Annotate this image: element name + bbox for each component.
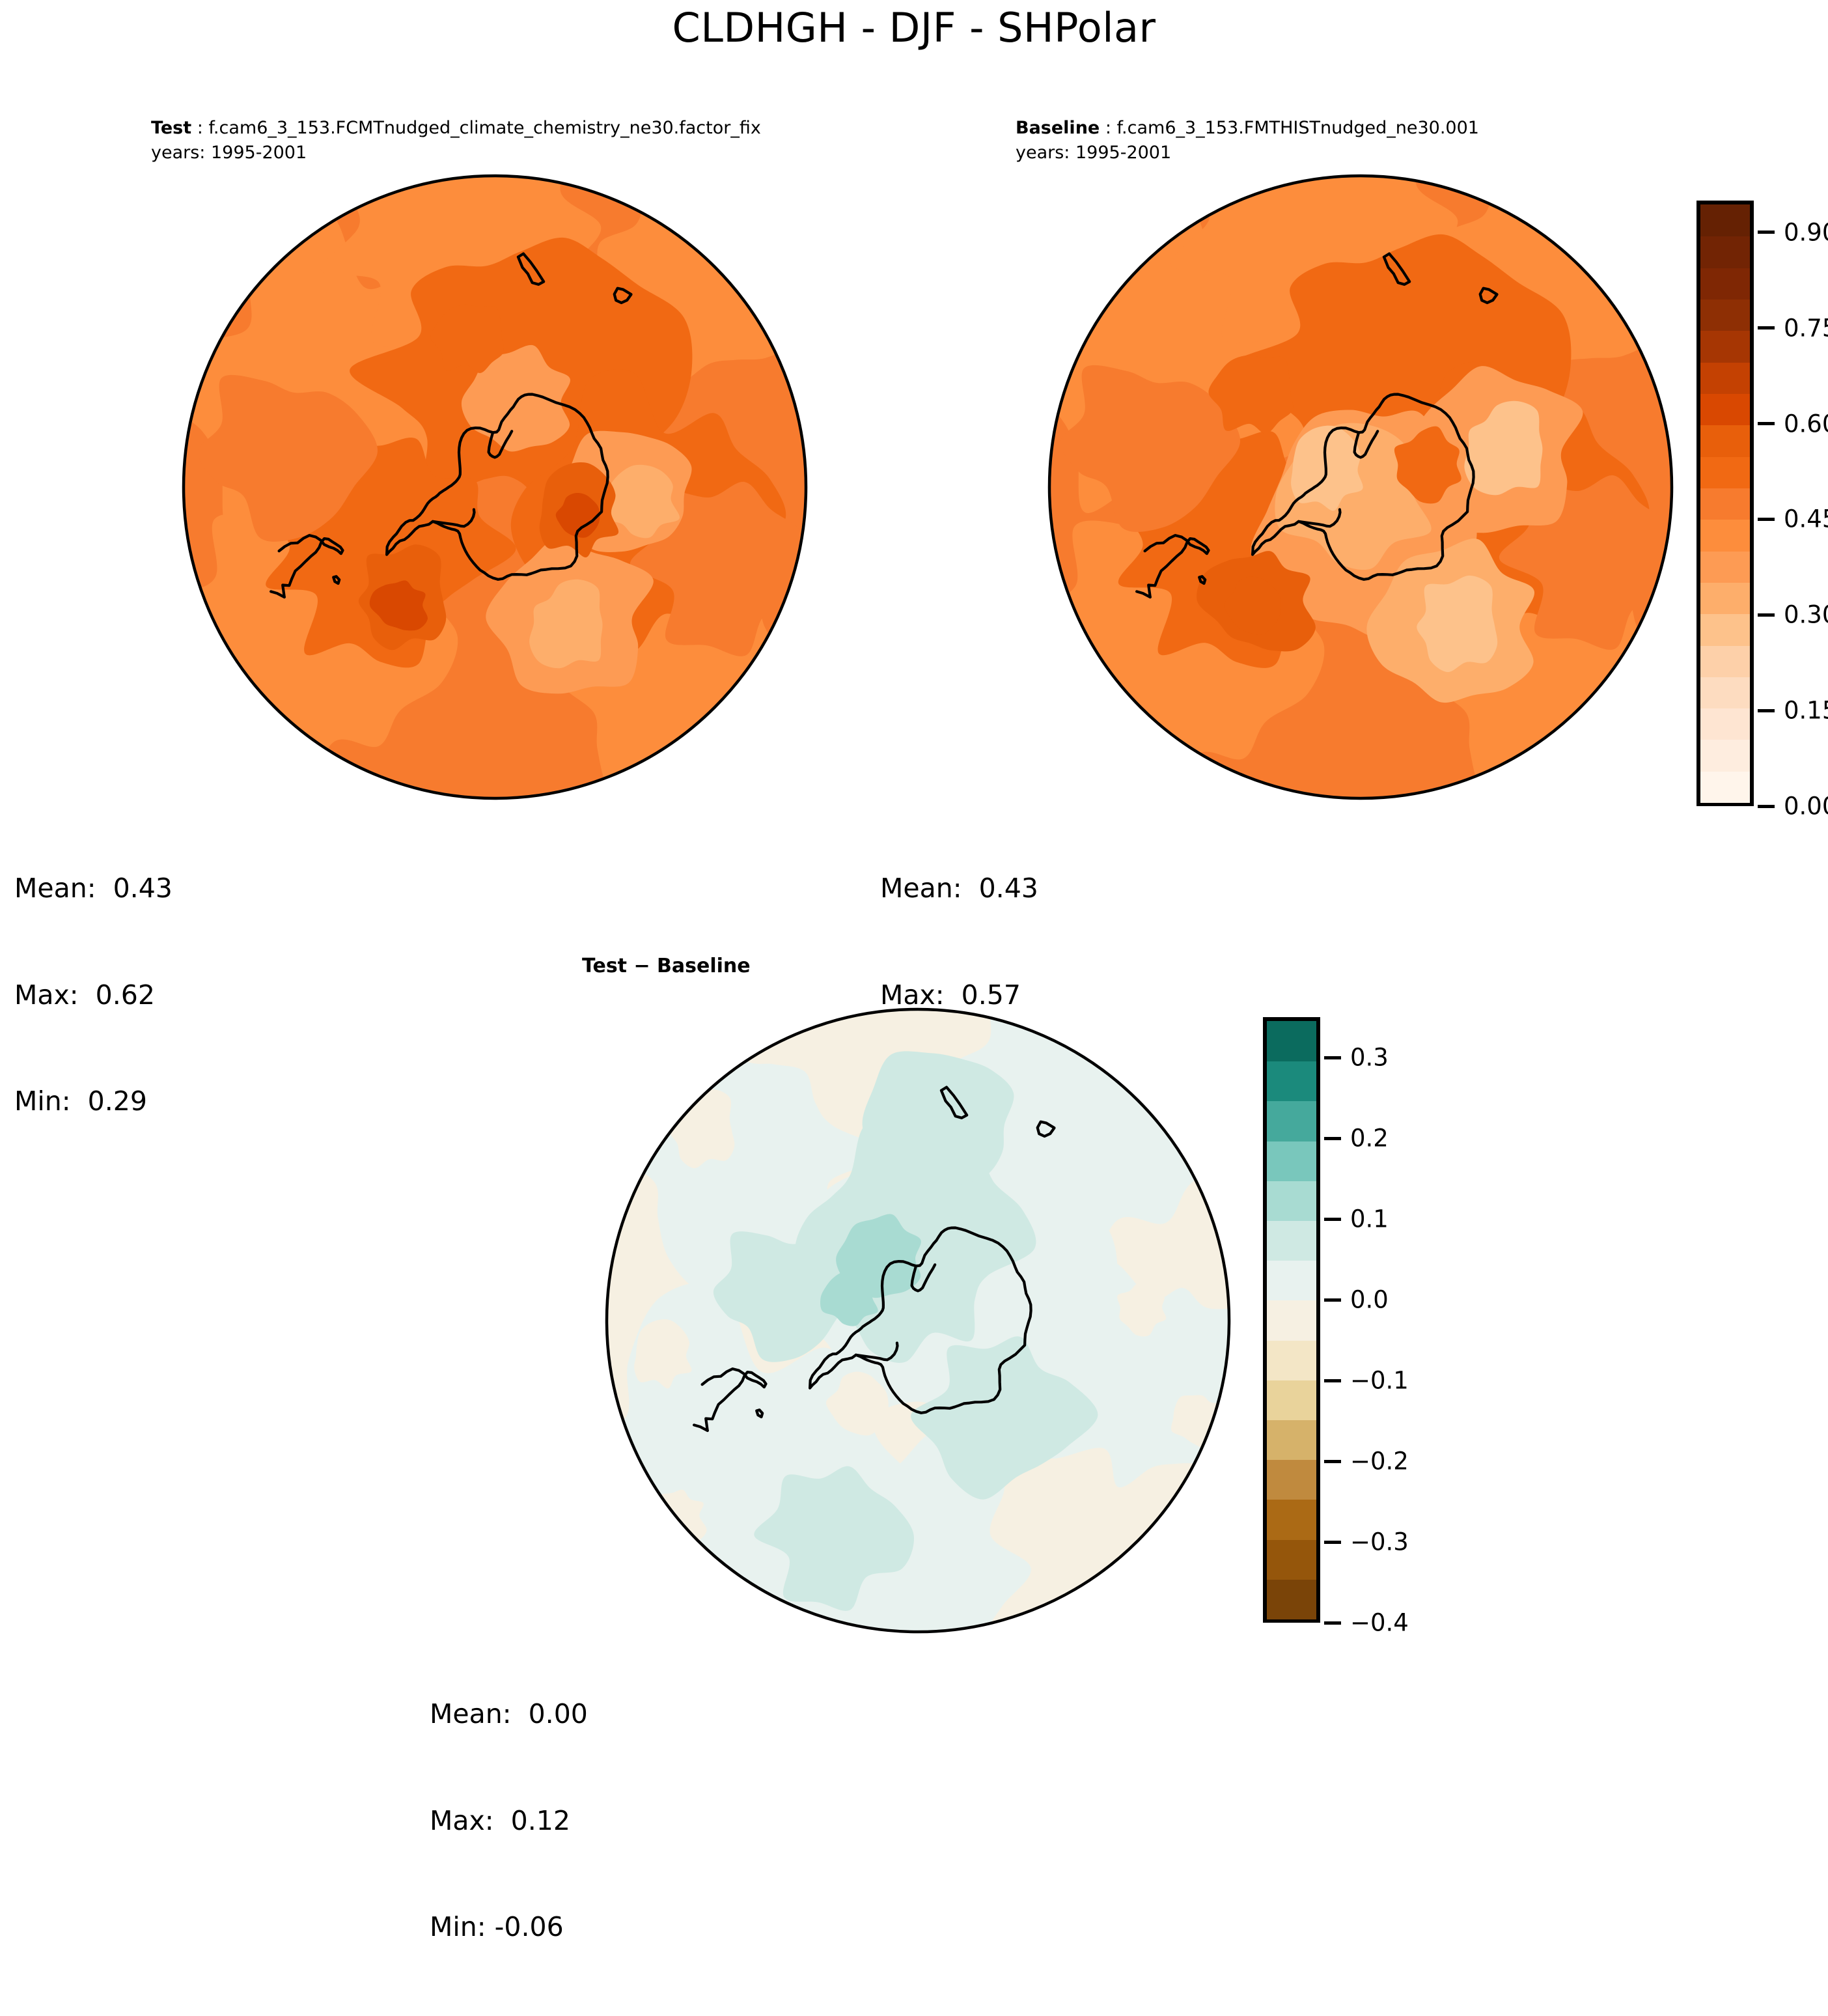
colorbar-tickmark [1758,805,1775,808]
colorbar-tick-label: 0.3 [1350,1044,1389,1072]
colorbar-band [1700,550,1750,582]
colorbar-tickmark [1758,613,1775,617]
colorbar-tick-label: −0.4 [1350,1609,1409,1637]
colorbar-tickmark [1324,1218,1341,1221]
colorbar-band [1700,268,1750,300]
colorbar-band [1700,613,1750,645]
colorbar-band [1700,708,1750,740]
colorbar-band [1267,1220,1316,1261]
colorbar-band [1700,488,1750,520]
colorbar-band [1267,1459,1316,1500]
colorbar-band [1700,739,1750,771]
test-stats: Mean: 0.43 Max: 0.62 Min: 0.29 [14,800,173,1190]
colorbar-tickmark [1324,1460,1341,1463]
colorbar-tickmark [1324,1056,1341,1059]
colorbar-tickmark [1324,1379,1341,1382]
contour-fill-group [154,161,820,813]
colorbar-band [1267,1499,1316,1539]
colorbar-band [1267,1181,1316,1221]
baseline-case-line: Baseline : f.cam6_3_153.FMTHISTnudged_ne… [1016,116,1479,141]
test-stat-max: Max: 0.62 [14,977,173,1013]
colorbar-band [1267,1539,1316,1580]
colorbar-tick-label: 0.45 [1784,505,1828,533]
colorbar-band [1267,1340,1316,1380]
test-map [150,161,820,813]
colorbar-tick-label: −0.1 [1350,1367,1409,1395]
colorbar-band [1267,1061,1316,1101]
colorbar-band [1267,1579,1316,1619]
colorbar-band [1700,519,1750,551]
colorbar-band [1700,456,1750,488]
colorbar-band [1700,299,1750,331]
baseline-map [1016,161,1686,813]
test-label: Test [151,118,191,138]
test-stat-min: Min: 0.29 [14,1084,173,1119]
colorbar-tick-label: −0.2 [1350,1448,1409,1476]
colorbar-tickmark [1324,1137,1341,1140]
colorbar-tickmark [1758,518,1775,521]
colorbar-tickmark [1758,326,1775,329]
colorbar-tickmark [1324,1298,1341,1302]
colorbar-band [1267,1021,1316,1061]
colorbar-tickmark [1324,1541,1341,1544]
difference-colorbar[interactable] [1263,1017,1320,1623]
contour-fill-group [573,995,1243,1646]
colorbar-band [1700,677,1750,708]
colorbar-band [1700,393,1750,425]
colorbar-band [1267,1100,1316,1141]
colorbar-tick-label: 0.60 [1784,410,1828,438]
difference-stat-mean: Mean: 0.00 [430,1696,588,1732]
colorbar-band [1700,362,1750,394]
colorbar-tick-label: 0.0 [1350,1286,1389,1314]
colorbar-tick-label: −0.3 [1350,1528,1409,1556]
baseline-stat-mean: Mean: 0.43 [880,871,1038,906]
colorbar-band [1700,582,1750,614]
colorbar-band [1267,1420,1316,1460]
colorbar-tick-label: 0.90 [1784,218,1828,246]
test-case-name: f.cam6_3_153.FCMTnudged_climate_chemistr… [208,118,760,138]
difference-stat-min: Min: -0.06 [430,1909,588,1945]
contour-fill-group [1016,161,1686,813]
difference-colorbar-ticklabels: −0.4−0.3−0.2−0.10.00.10.20.3 [1324,1017,1454,1623]
test-case-line: Test : f.cam6_3_153.FCMTnudged_climate_c… [151,116,761,141]
colorbar-band [1700,330,1750,362]
colorbar-tick-label: 0.30 [1784,601,1828,629]
colorbar-band [1267,1380,1316,1420]
test-stat-mean: Mean: 0.43 [14,871,173,906]
colorbar-tick-label: 0.15 [1784,697,1828,725]
colorbar-band [1700,771,1750,803]
colorbar-band [1267,1260,1316,1300]
figure-title: CLDHGH - DJF - SHPolar [0,4,1828,51]
test-separator: : [191,118,208,138]
baseline-panel-subtitle: Baseline : f.cam6_3_153.FMTHISTnudged_ne… [1016,116,1479,166]
colorbar-tick-label: 0.2 [1350,1125,1389,1153]
colorbar-tickmark [1758,709,1775,712]
main-colorbar-ticklabels: 0.000.150.300.450.600.750.90 [1758,201,1828,806]
difference-stat-max: Max: 0.12 [430,1803,588,1839]
colorbar-tick-label: 0.1 [1350,1205,1389,1233]
test-panel-subtitle: Test : f.cam6_3_153.FCMTnudged_climate_c… [151,116,761,166]
colorbar-band [1700,236,1750,268]
baseline-separator: : [1100,118,1116,138]
difference-stats: Mean: 0.00 Max: 0.12 Min: -0.06 [430,1625,588,2016]
baseline-label: Baseline [1016,118,1100,138]
colorbar-tick-label: 0.75 [1784,314,1828,342]
main-colorbar[interactable] [1696,201,1754,806]
colorbar-band [1267,1141,1316,1181]
colorbar-band [1700,645,1750,677]
colorbar-band [1700,204,1750,236]
colorbar-tick-label: 0.00 [1784,792,1828,820]
difference-map [573,995,1243,1646]
colorbar-tickmark [1758,422,1775,425]
colorbar-tickmark [1758,231,1775,234]
baseline-case-name: f.cam6_3_153.FMTHISTnudged_ne30.001 [1117,118,1479,138]
colorbar-tickmark [1324,1621,1341,1625]
difference-panel-title: Test − Baseline [582,955,751,977]
colorbar-band [1267,1300,1316,1340]
colorbar-band [1700,425,1750,456]
